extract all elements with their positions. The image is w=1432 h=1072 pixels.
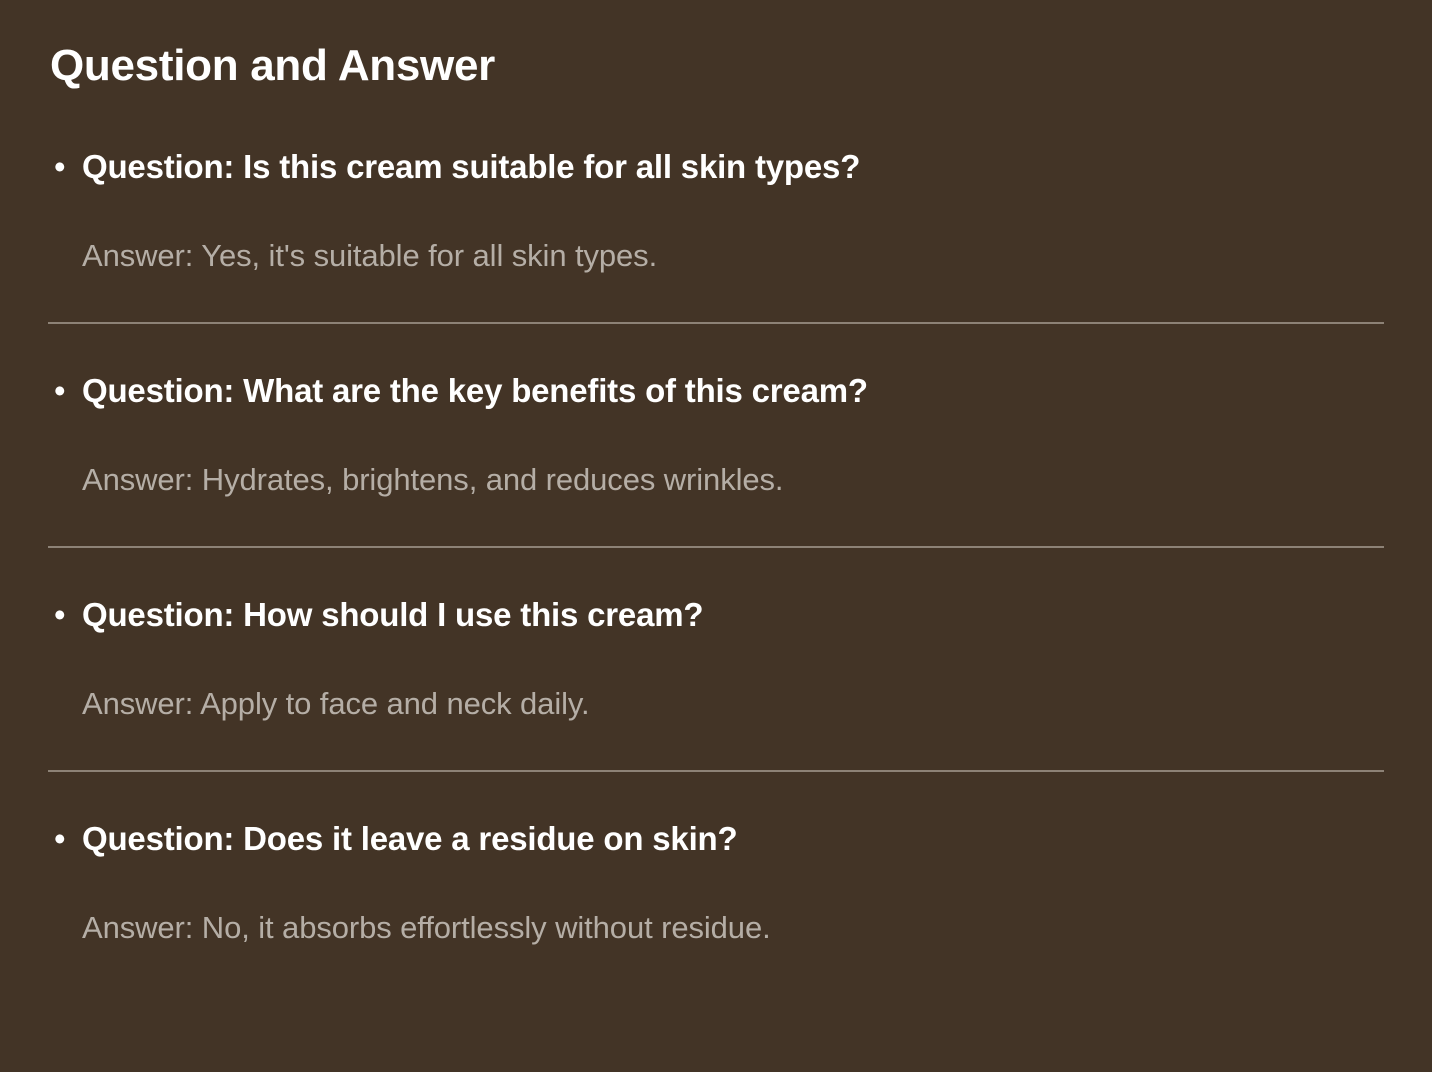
qa-item: • Question: Does it leave a residue on s… xyxy=(48,770,1384,994)
question-text: Question: Does it leave a residue on ski… xyxy=(82,818,737,860)
question-row: • Question: What are the key benefits of… xyxy=(48,370,1384,412)
question-row: • Question: Does it leave a residue on s… xyxy=(48,818,1384,860)
question-row: • Question: Is this cream suitable for a… xyxy=(48,146,1384,188)
qa-item: • Question: Is this cream suitable for a… xyxy=(48,146,1384,322)
answer-text: Answer: No, it absorbs effortlessly with… xyxy=(48,908,1384,948)
bullet-icon: • xyxy=(48,370,82,412)
question-and-answer-panel: Question and Answer • Question: Is this … xyxy=(0,0,1432,1072)
question-text: Question: How should I use this cream? xyxy=(82,594,703,636)
question-row: • Question: How should I use this cream? xyxy=(48,594,1384,636)
bullet-icon: • xyxy=(48,818,82,860)
answer-text: Answer: Yes, it's suitable for all skin … xyxy=(48,236,1384,276)
bullet-icon: • xyxy=(48,594,82,636)
qa-item: • Question: What are the key benefits of… xyxy=(48,322,1384,546)
qa-item: • Question: How should I use this cream?… xyxy=(48,546,1384,770)
question-text: Question: What are the key benefits of t… xyxy=(82,370,868,412)
page-title: Question and Answer xyxy=(48,44,1384,88)
qa-list: • Question: Is this cream suitable for a… xyxy=(48,146,1384,994)
answer-text: Answer: Hydrates, brightens, and reduces… xyxy=(48,460,1384,500)
answer-text: Answer: Apply to face and neck daily. xyxy=(48,684,1384,724)
question-text: Question: Is this cream suitable for all… xyxy=(82,146,860,188)
bullet-icon: • xyxy=(48,146,82,188)
